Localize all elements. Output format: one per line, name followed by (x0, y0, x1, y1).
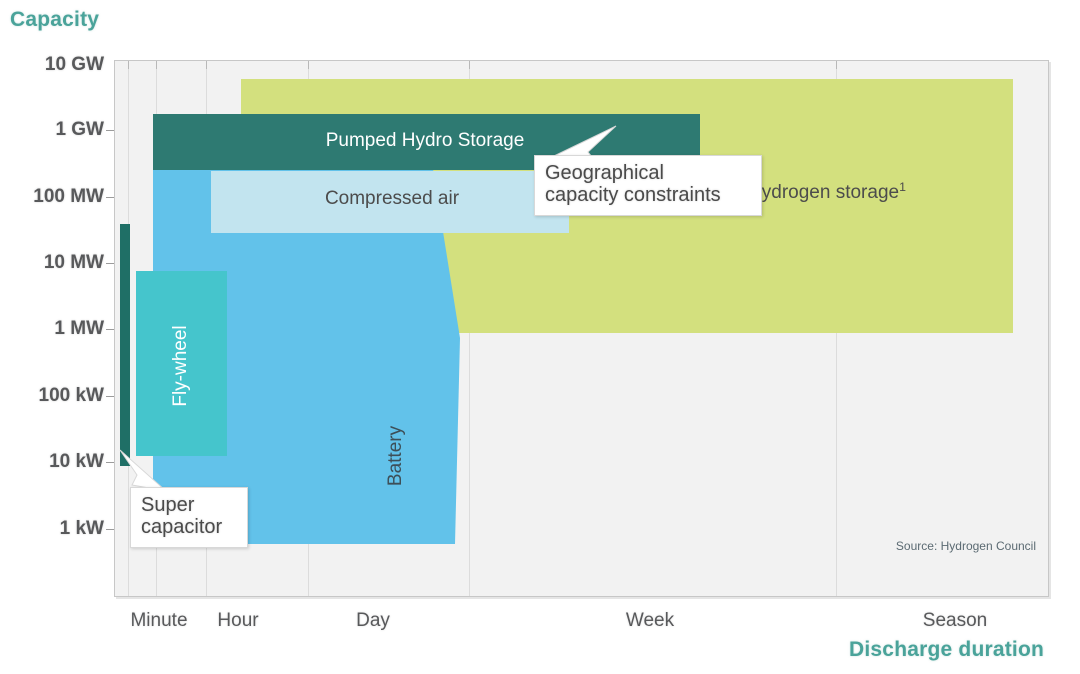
y-tick-label-1gw: 1 GW (4, 119, 104, 141)
region-super-capacitor[interactable] (120, 224, 130, 466)
y-tick-label-10kw: 10 kW (4, 451, 104, 473)
region-flywheel[interactable] (136, 271, 227, 456)
supercapacitor-callout: Super capacitor (130, 487, 248, 548)
x-axis-title: Discharge duration (849, 638, 1044, 662)
x-tick-label-day: Day (356, 610, 390, 632)
y-tick-mark-100mw (106, 197, 114, 198)
y-tick-mark-1kw (106, 529, 114, 530)
x-tick-label-week: Week (626, 610, 674, 632)
y-axis-labels: 10 GW 1 GW 100 MW 10 MW 1 MW 100 kW 10 k… (0, 0, 104, 674)
x-tick-label-hour: Hour (217, 610, 258, 632)
y-tick-label-10mw: 10 MW (4, 252, 104, 274)
y-tick-mark-10mw (106, 263, 114, 264)
y-tick-label-100mw: 100 MW (4, 186, 104, 208)
y-tick-mark-1mw (106, 329, 114, 330)
region-compressed-air[interactable] (211, 171, 569, 233)
y-tick-label-1kw: 1 kW (4, 518, 104, 540)
y-tick-label-10gw: 10 GW (4, 54, 104, 76)
y-tick-label-100kw: 100 kW (4, 385, 104, 407)
y-tick-mark-1gw (106, 130, 114, 131)
x-tick-label-season: Season (923, 610, 987, 632)
y-tick-label-1mw: 1 MW (4, 318, 104, 340)
source-note: Source: Hydrogen Council (896, 539, 1036, 553)
x-tick-label-minute: Minute (130, 610, 187, 632)
y-tick-mark-100kw (106, 396, 114, 397)
geographical-callout: Geographical capacity constraints (534, 155, 762, 216)
